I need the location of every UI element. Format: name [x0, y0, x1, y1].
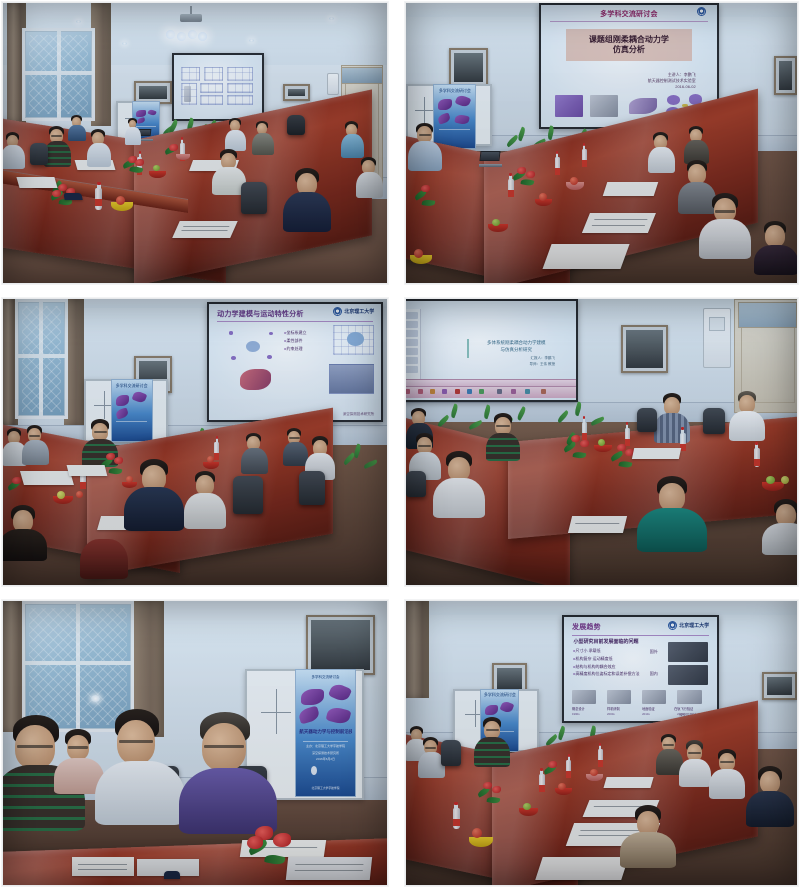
poster-title: 多学科交流研讨会	[484, 692, 517, 698]
fruit	[492, 219, 500, 226]
ppt-subtitle-line2: 导师：王伟 教授	[529, 362, 554, 368]
presenter	[124, 118, 142, 144]
slide-label-1: 柔性部件	[284, 337, 306, 345]
poster-line-2: 2016年6月2日	[301, 757, 351, 761]
flower-arrangement	[245, 823, 301, 863]
flower-arrangement	[476, 780, 506, 802]
slide-bullet-0: 尺寸小 承载低	[574, 647, 640, 655]
attendee	[656, 734, 682, 772]
apple	[590, 769, 598, 776]
flower-arrangement	[414, 182, 440, 206]
slide-image	[329, 364, 374, 394]
slide-subtitle: 主讲人：李鹏飞 航天器控制测试技术实验室 2016-06-02	[648, 72, 696, 90]
water-bottle	[625, 428, 630, 443]
collage-cell-top-left	[0, 0, 400, 290]
collage-cell-top-right: 多学科交流研讨会 课题组刚柔耦合动力学 仿真分析 主讲人：李鹏飞 航天器控制测试…	[400, 0, 800, 290]
roadmap-stage	[677, 690, 701, 705]
collage-cell-bottom-right: 发展趋势 北京理工大学 小型研究目前发展面临的问题 尺寸小 承载低 机构复杂 运…	[400, 594, 800, 888]
slide-header: 多学科交流研讨会	[541, 9, 717, 19]
attendee	[488, 413, 518, 457]
plant	[341, 448, 387, 482]
slide-bullet-1: 机构复杂 运动精度低	[574, 655, 640, 663]
stage-label-1: 样机研制	[607, 706, 620, 711]
attendee	[253, 121, 273, 151]
conference-poster: 多学科交流研讨会	[111, 379, 153, 442]
roadmap-stage	[607, 690, 631, 705]
roadmap-stage	[642, 690, 666, 705]
document	[535, 857, 628, 880]
slide-bullet-3: 高精度机构位姿标定和误差补偿方法	[574, 670, 640, 678]
slide-subtitle-line3: 2016-06-02	[648, 84, 696, 90]
slide-bullets: 尺寸小 承载低 机构复杂 运动精度低 结构与机构的耦合效应 高精度机构位姿标定和…	[574, 647, 640, 677]
slide-title-line2: 仿真分析	[613, 45, 645, 55]
attendee-foreground	[703, 193, 747, 253]
wall-photo-frame	[306, 615, 375, 675]
slide-thumbnail	[555, 95, 583, 117]
stage-note-2: 2010s	[642, 712, 650, 716]
ppt-toolbar[interactable]	[406, 386, 576, 398]
fruit-bowl	[469, 837, 493, 847]
office-chair	[30, 143, 48, 165]
attendee	[57, 729, 101, 789]
flower-arrangement	[543, 760, 567, 776]
attendee-foreground	[437, 451, 481, 511]
curtain-left	[406, 601, 429, 698]
projection-screen[interactable]: 动力学建模与运动特性分析 北京理工大学 坐标系建立 柔性部件 约束处理	[207, 302, 384, 422]
wall-photo-frame	[283, 84, 310, 101]
slide-image	[668, 642, 708, 662]
slide-image	[668, 665, 708, 685]
attendee-portrait-senior	[187, 712, 269, 830]
ppt-title-text: 多体系统刚柔耦合动力学建模 与仿真分析研究	[471, 339, 562, 353]
stage-label-2: 地面验证	[642, 706, 655, 711]
office-chair	[703, 408, 725, 434]
stage-label-0: 概念设计	[572, 706, 585, 711]
collage-cell-middle-right: 多体系统刚柔耦合动力学建模 与仿真分析研究 汇报人：李鹏飞 导师：王伟 教授	[400, 290, 800, 594]
attendee	[356, 157, 382, 191]
attendee	[680, 740, 710, 782]
water-bottle	[754, 448, 760, 467]
slide-side-label-0: 国外	[650, 649, 658, 655]
projection-screen[interactable]: 发展趋势 北京理工大学 小型研究目前发展面临的问题 尺寸小 承载低 机构复杂 运…	[562, 615, 718, 723]
poster-footer: 北京理工大学宇航学院	[301, 786, 351, 790]
apple	[207, 456, 214, 463]
document	[542, 244, 629, 269]
university-logo-text: 北京理工大学	[679, 622, 709, 629]
panel-top-left[interactable]	[2, 2, 388, 284]
office-chair	[637, 408, 657, 432]
stage-note-1: 2000s	[607, 712, 615, 716]
water-bottle	[555, 157, 560, 173]
slide-bullet-2: 结构与机构的耦合效应	[574, 663, 640, 671]
water-bottle	[214, 442, 219, 456]
ppt-title-line1: 多体系统刚柔耦合动力学建模	[471, 339, 562, 346]
panel-bottom-right[interactable]: 发展趋势 北京理工大学 小型研究目前发展面临的问题 尺寸小 承载低 机构复杂 运…	[405, 600, 798, 886]
ac-control-panel	[703, 308, 730, 368]
downlight	[76, 20, 81, 23]
fruit	[57, 491, 65, 499]
attendee	[87, 129, 111, 163]
water-bottle	[95, 188, 102, 210]
attendee-foreground	[287, 168, 327, 224]
ac-control-panel	[327, 73, 339, 95]
slide-thumbnail	[590, 95, 618, 117]
projection-screen[interactable]: 多体系统刚柔耦合动力学建模 与仿真分析研究 汇报人：李鹏飞 导师：王伟 教授	[406, 299, 578, 402]
attendee-foreground	[187, 471, 223, 523]
document	[67, 465, 108, 476]
notebook	[72, 857, 133, 877]
university-logo: 北京理工大学	[668, 621, 709, 630]
projector	[180, 14, 202, 22]
slide-footer: 深空探测技术研究所	[343, 412, 375, 417]
document	[632, 448, 681, 459]
wall-photo-frame	[621, 325, 668, 374]
laptop	[480, 151, 500, 167]
collage-cell-bottom-left: 多学科交流研讨会 航天器动力学与控制前沿技术研讨会 主办：北京理工大学宇航学院 …	[0, 594, 400, 888]
panel-top-right[interactable]: 多学科交流研讨会 课题组刚柔耦合动力学 仿真分析 主讲人：李鹏飞 航天器控制测试…	[405, 2, 798, 284]
office-chair	[241, 182, 267, 214]
slide-title: 课题组刚柔耦合动力学 仿真分析	[566, 29, 693, 61]
fruit	[598, 439, 605, 446]
poster-title: 多学科交流研讨会	[114, 383, 149, 389]
slide-side-label-1: 国内	[650, 671, 658, 677]
flower-arrangement	[122, 154, 148, 170]
panel-middle-left[interactable]: 动力学建模与运动特性分析 北京理工大学 坐标系建立 柔性部件 约束处理	[2, 298, 388, 586]
collage-cell-middle-left: 动力学建模与运动特性分析 北京理工大学 坐标系建立 柔性部件 约束处理	[0, 290, 400, 594]
poster-seal	[311, 766, 317, 775]
document	[603, 182, 658, 196]
attendee	[22, 425, 48, 461]
office-chair	[299, 471, 325, 505]
transom-window	[738, 302, 797, 328]
university-logo-text: 北京理工大学	[344, 308, 374, 315]
slide-title-line1: 课题组刚柔耦合动力学	[589, 35, 669, 45]
document	[582, 213, 656, 233]
transom-window	[341, 67, 383, 84]
presenter	[476, 717, 508, 763]
flower-arrangement	[562, 433, 594, 457]
chandelier	[164, 28, 214, 42]
attendee-foreground	[645, 476, 699, 542]
attendee	[68, 115, 86, 139]
panel-bottom-left[interactable]: 多学科交流研讨会 航天器动力学与控制前沿技术研讨会 主办：北京理工大学宇航学院 …	[2, 600, 388, 886]
window	[15, 299, 69, 419]
projection-screen[interactable]	[172, 53, 264, 120]
document	[20, 471, 74, 485]
ppt-menu-bar[interactable]	[406, 379, 576, 386]
attendee-foreground	[80, 539, 124, 579]
attendee-foreground	[750, 766, 790, 820]
ppt-subtitle-text: 汇报人：李鹏飞 导师：王伟 教授	[529, 356, 554, 368]
attendee-foreground	[758, 221, 794, 267]
attendee	[684, 126, 708, 160]
office-chair	[406, 471, 426, 497]
attendee	[3, 132, 25, 166]
window-reflection	[91, 695, 100, 702]
apple	[570, 177, 578, 185]
senior-attendee	[731, 391, 763, 437]
attendee	[214, 149, 244, 189]
cap	[164, 871, 180, 879]
attendee-foreground	[130, 459, 178, 523]
poster-title: 多学科交流研讨会	[299, 675, 351, 680]
poster-title: 多学科交流研讨会	[437, 88, 473, 94]
university-logo	[697, 7, 706, 16]
photo-collage: 多学科交流研讨会 课题组刚柔耦合动力学 仿真分析 主讲人：李鹏飞 航天器控制测试…	[0, 0, 800, 888]
water-bottle	[566, 760, 571, 776]
attendee	[648, 132, 674, 170]
attendee	[711, 749, 743, 793]
slide-node-diagram	[224, 327, 283, 366]
attendee	[283, 428, 307, 462]
slide-labels: 坐标系建立 柔性部件 约束处理	[284, 329, 306, 352]
conference-poster: 多学科交流研讨会 航天器动力学与控制前沿技术研讨会 主办：北京理工大学宇航学院 …	[295, 669, 356, 797]
attendee	[418, 737, 444, 775]
wall-photo-frame	[449, 48, 488, 87]
poster-headline: 航天器动力学与控制前沿技术研讨会	[299, 729, 351, 735]
water-bottle	[539, 774, 545, 791]
office-chair	[233, 476, 263, 514]
attendee-foreground	[625, 805, 671, 861]
attendee	[341, 121, 363, 153]
slide-label-0: 坐标系建立	[284, 329, 306, 337]
document	[172, 221, 237, 238]
slide-label-2: 约束处理	[284, 345, 306, 353]
attendee-foreground	[3, 505, 43, 555]
office-chair	[287, 115, 305, 135]
flower-arrangement	[164, 143, 184, 155]
panel-middle-right[interactable]: 多体系统刚柔耦合动力学建模 与仿真分析研究 汇报人：李鹏飞 导师：王伟 教授	[405, 298, 798, 586]
water-bottle	[582, 149, 587, 164]
document	[17, 177, 59, 188]
flower-arrangement	[512, 165, 540, 183]
notebook	[568, 516, 627, 533]
poster-line-0: 主办：北京理工大学宇航学院	[301, 744, 351, 748]
apple	[76, 491, 83, 498]
wall-photo-frame	[774, 56, 797, 95]
slide-thumbnail	[629, 98, 657, 114]
stage-note-0: 1990s	[572, 712, 580, 716]
ppt-slide-thumbnails[interactable]	[406, 309, 421, 384]
water-bottle	[598, 749, 603, 764]
slide-subhead: 小型研究目前发展面临的问题	[574, 638, 639, 645]
office-chair	[441, 740, 461, 766]
attendee-foreground	[766, 499, 797, 549]
wall-photo-frame	[762, 672, 797, 700]
attendee-portrait	[103, 709, 177, 821]
ppt-title-line2: 与仿真分析研究	[471, 346, 562, 353]
cap	[64, 193, 83, 200]
poster-line-1: 深空探测技术研究所	[301, 751, 351, 755]
university-logo: 北京理工大学	[333, 307, 374, 316]
water-bottle	[453, 808, 460, 829]
stage-label-3: 在轨飞行验证	[674, 706, 693, 711]
roadmap-stage	[572, 690, 596, 705]
window	[22, 28, 95, 120]
fruit	[523, 803, 531, 810]
attendee	[410, 433, 440, 475]
document	[604, 777, 654, 788]
slide-model	[240, 369, 271, 390]
attendee	[226, 118, 246, 148]
attendee	[241, 433, 267, 471]
presenter	[410, 123, 440, 167]
